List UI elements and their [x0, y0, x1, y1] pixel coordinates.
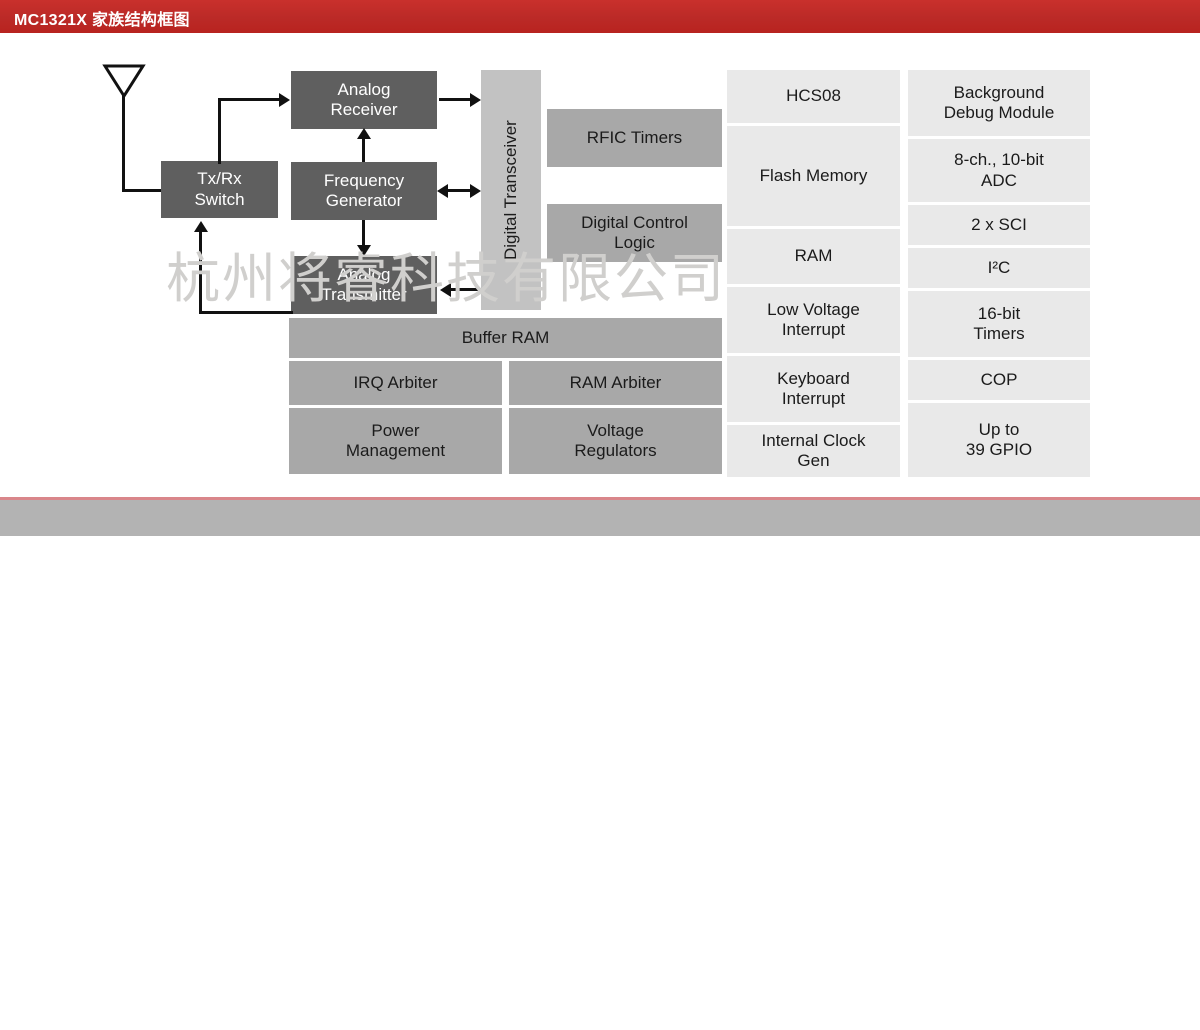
wire-freqgen-to-dt — [448, 189, 472, 192]
block-i2c[interactable]: I²C — [908, 248, 1090, 288]
block-adc[interactable]: 8-ch., 10-bit ADC — [908, 139, 1090, 202]
block-tx-rx-switch[interactable]: Tx/Rx Switch — [161, 161, 278, 218]
arrow-receiver-to-dt — [470, 93, 481, 107]
block-voltage-regulators[interactable]: Voltage Regulators — [509, 408, 722, 474]
arrow-freqgen-to-transmitter — [357, 245, 371, 256]
block-digital-control-logic[interactable]: Digital Control Logic — [547, 204, 722, 262]
block-gpio[interactable]: Up to 39 GPIO — [908, 403, 1090, 477]
wire-transmitter-left — [199, 311, 293, 314]
block-digital-transceiver[interactable]: Digital Transceiver — [481, 70, 541, 310]
arrow-freqgen-to-receiver — [357, 128, 371, 139]
arrow-freqgen-to-dt — [470, 184, 481, 198]
wire-switch-up — [218, 98, 221, 164]
page-title: MC1321X 家族结构框图 — [14, 6, 190, 30]
block-analog-receiver[interactable]: Analog Receiver — [291, 71, 437, 129]
block-cop[interactable]: COP — [908, 360, 1090, 400]
block-analog-transmitter[interactable]: Analog Transmitter — [291, 256, 437, 314]
wire-antenna-down — [122, 94, 125, 192]
wire-freqgen-to-receiver — [362, 136, 365, 162]
block-sci[interactable]: 2 x SCI — [908, 205, 1090, 245]
figure-caption: 图 4 — [40, 1011, 70, 1030]
block-keyboard-interrupt[interactable]: Keyboard Interrupt — [727, 356, 900, 422]
block-internal-clock-gen[interactable]: Internal Clock Gen — [727, 425, 900, 477]
block-irq-arbiter[interactable]: IRQ Arbiter — [289, 361, 502, 405]
block-rfic-timers[interactable]: RFIC Timers — [547, 109, 722, 167]
arrow-switch-to-receiver — [279, 93, 290, 107]
block-hcs08[interactable]: HCS08 — [727, 70, 900, 123]
wire-freqgen-to-transmitter — [362, 220, 365, 246]
block-16bit-timers[interactable]: 16-bit Timers — [908, 291, 1090, 357]
block-diagram-canvas: Tx/Rx Switch Analog Receiver Frequency G… — [0, 36, 1200, 497]
arrow-transmitter-to-switch — [194, 221, 208, 232]
wire-transmitter-up — [199, 232, 202, 312]
block-buffer-ram[interactable]: Buffer RAM — [289, 318, 722, 358]
title-bar: MC1321X 家族结构框图 — [0, 0, 1200, 33]
block-low-voltage-interrupt[interactable]: Low Voltage Interrupt — [727, 287, 900, 353]
arrow-dt-to-freqgen — [437, 184, 448, 198]
block-background-debug-module[interactable]: Background Debug Module — [908, 70, 1090, 136]
wire-switch-to-receiver — [218, 98, 280, 101]
wire-dt-to-transmitter — [451, 288, 481, 291]
wire-receiver-to-dt — [439, 98, 473, 101]
arrow-dt-to-transmitter — [440, 283, 451, 297]
block-power-management[interactable]: Power Management — [289, 408, 502, 474]
block-frequency-generator[interactable]: Frequency Generator — [291, 162, 437, 220]
footer-bar: 图 4 — [0, 500, 1200, 536]
block-ram-arbiter[interactable]: RAM Arbiter — [509, 361, 722, 405]
block-flash-memory[interactable]: Flash Memory — [727, 126, 900, 226]
block-ram[interactable]: RAM — [727, 229, 900, 284]
